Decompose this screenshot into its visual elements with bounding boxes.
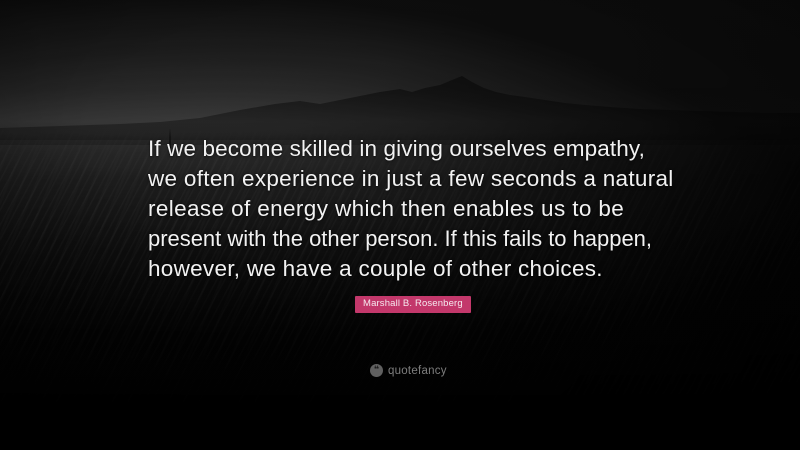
quote-line: release of energy which then enables us … <box>148 194 656 224</box>
quote-line: present with the other person. If this f… <box>148 224 656 254</box>
author-badge[interactable]: Marshall B. Rosenberg <box>355 296 471 313</box>
quote-mark-circle-icon: ❝ <box>370 364 383 377</box>
quote-line: however, we have a couple of other choic… <box>148 254 656 284</box>
watermark-brand-label: quotefancy <box>388 365 447 377</box>
quote-poster: If we become skilled in giving ourselves… <box>0 0 800 450</box>
quotefancy-watermark[interactable]: ❝ quotefancy <box>370 364 447 377</box>
quote-line: we often experience in just a few second… <box>148 164 656 194</box>
quote-text-block: If we become skilled in giving ourselves… <box>148 134 656 284</box>
quote-line: If we become skilled in giving ourselves… <box>148 134 656 164</box>
